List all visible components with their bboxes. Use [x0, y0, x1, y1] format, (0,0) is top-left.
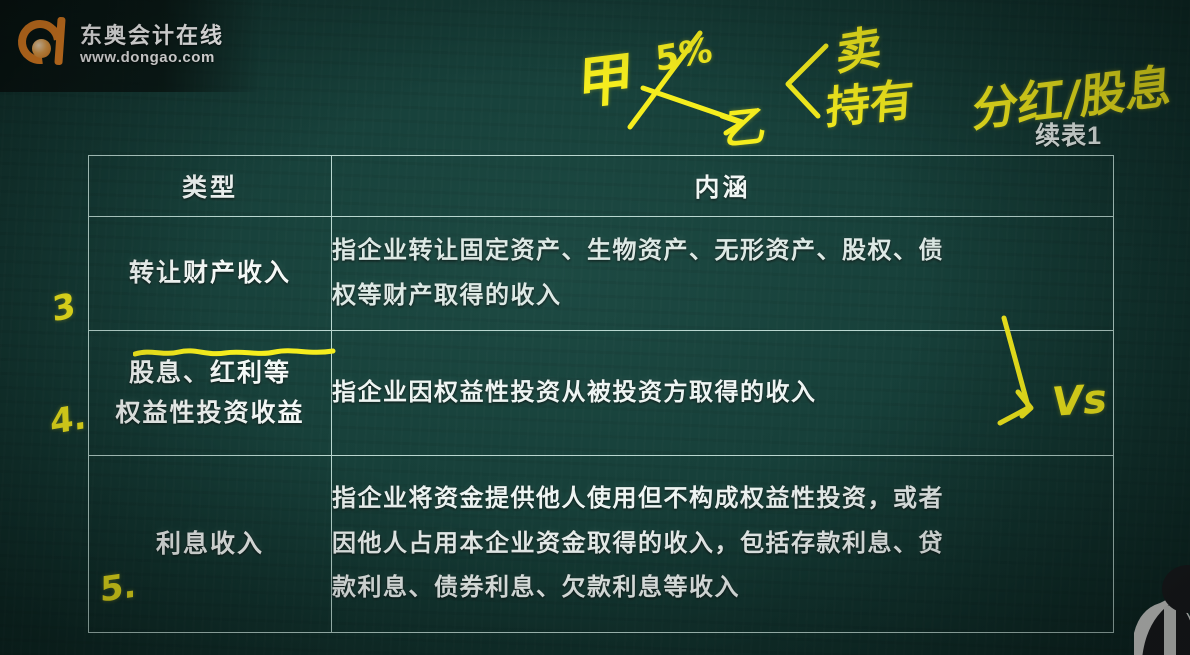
table-row: 股息、红利等 权益性投资收益 指企业因权益性投资从被投资方取得的收入	[89, 331, 1114, 456]
row-meaning-transfer-property-income: 指企业转让固定资产、生物资产、无形资产、股权、债 权等财产取得的收入	[332, 217, 1114, 331]
brand-url: www.dongao.com	[80, 48, 224, 68]
row-meaning-interest-income: 指企业将资金提供他人使用但不构成权益性投资，或者 因他人占用本企业资金取得的收入…	[332, 456, 1114, 633]
column-header-meaning: 内涵	[332, 156, 1114, 217]
lecture-video-frame: 东奥会计在线 www.dongao.com 续表1 类型 内涵 转让财产收入 指…	[0, 0, 1190, 655]
yellow-wavy-underline-icon	[133, 348, 338, 357]
meaning-line: 因他人占用本企业资金取得的收入，包括存款利息、贷	[332, 522, 1113, 566]
row-type-interest-income: 利息收入	[89, 456, 332, 633]
meaning-line: 权等财产取得的收入	[332, 274, 1113, 318]
annotation-jia: 甲	[577, 32, 635, 121]
annotation-number-4: 4.	[50, 397, 87, 444]
type-line: 权益性投资收益	[89, 393, 331, 434]
type-line: 股息、红利等	[129, 353, 291, 394]
row-type-transfer-property-income: 转让财产收入	[89, 217, 332, 331]
table-header-row: 类型 内涵	[89, 156, 1114, 217]
content-table: 类型 内涵 转让财产收入 指企业转让固定资产、生物资产、无形资产、股权、债 权等…	[88, 155, 1114, 633]
column-header-type: 类型	[89, 156, 332, 217]
annotation-five-percent: 5%	[654, 30, 714, 80]
dongao-d-logo-icon	[16, 19, 70, 73]
annotation-mai: 卖	[836, 10, 883, 84]
row-meaning-dividend-equity-investment-income: 指企业因权益性投资从被投资方取得的收入	[332, 331, 1114, 456]
annotation-chiyou: 持有	[825, 63, 916, 137]
table-row: 利息收入 指企业将资金提供他人使用但不构成权益性投资，或者 因他人占用本企业资金…	[89, 456, 1114, 633]
meaning-line: 款利息、债券利息、欠款利息等收入	[332, 566, 1113, 610]
brand-name-cn: 东奥会计在线	[80, 24, 224, 48]
meaning-line: 指企业因权益性投资从被投资方取得的收入	[332, 371, 1113, 415]
table-row: 转让财产收入 指企业转让固定资产、生物资产、无形资产、股权、债 权等财产取得的收…	[89, 217, 1114, 331]
row-type-dividend-equity-investment-income: 股息、红利等 权益性投资收益	[89, 331, 332, 456]
brand-logo-bar: 东奥会计在线 www.dongao.com	[0, 0, 262, 92]
meaning-line: 指企业将资金提供他人使用但不构成权益性投资，或者	[332, 477, 1113, 521]
annotation-number-3: 3	[51, 285, 77, 330]
brand-text: 东奥会计在线 www.dongao.com	[80, 24, 224, 68]
table-caption: 续表1	[1035, 116, 1102, 152]
meaning-line: 指企业转让固定资产、生物资产、无形资产、股权、债	[332, 229, 1113, 273]
annotation-yi: 乙	[723, 91, 769, 157]
